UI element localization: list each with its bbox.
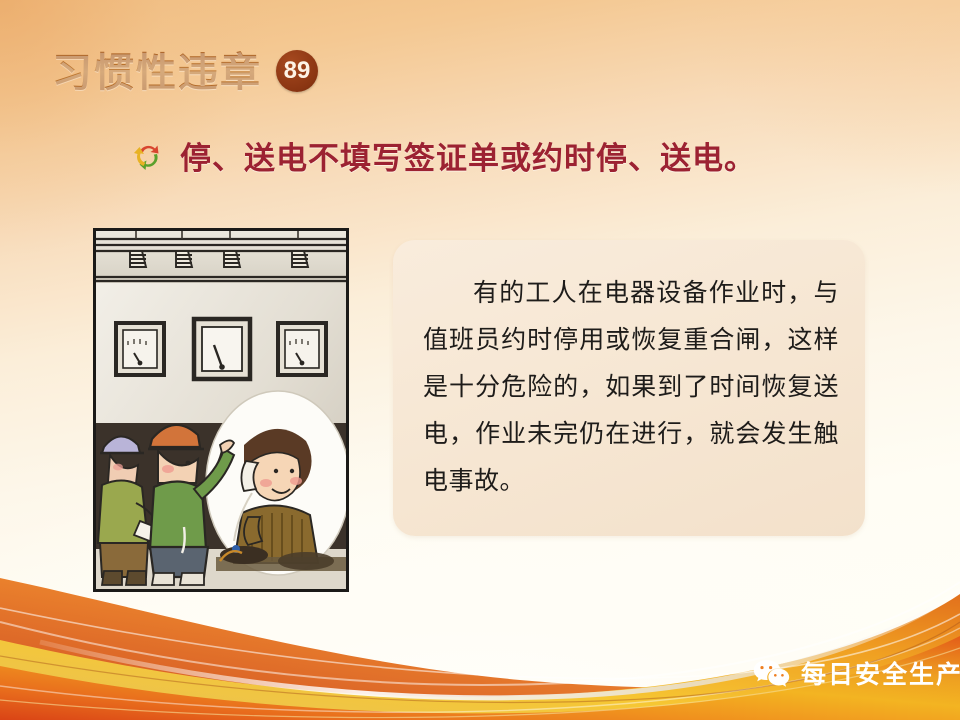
wechat-icon <box>752 658 790 688</box>
item-number-badge: 89 <box>276 50 318 92</box>
description-paragraph: 有的工人在电器设备作业时，与值班员约时停用或恢复重合闸，这样是十分危险的，如果到… <box>423 270 839 505</box>
description-card: 有的工人在电器设备作业时，与值班员约时停用或恢复重合闸，这样是十分危险的，如果到… <box>393 240 865 536</box>
page-title-text: 习惯性违章 <box>52 40 262 98</box>
recycle-arrows-icon <box>131 139 165 173</box>
subtitle-text: 停、送电不填写签证单或约时停、送电。 <box>180 133 756 178</box>
slide-canvas: 习惯性违章 89 停、送电不填写签证单或约时停、送电。 <box>0 0 960 720</box>
page-title: 习惯性违章 89 <box>52 40 318 98</box>
watermark-text: 每日安全生产 <box>801 655 960 691</box>
subtitle-row: 停、送电不填写签证单或约时停、送电。 <box>131 133 756 178</box>
electrical-panel-workers-illustration <box>93 228 349 592</box>
watermark: 每日安全生产 <box>752 655 960 691</box>
